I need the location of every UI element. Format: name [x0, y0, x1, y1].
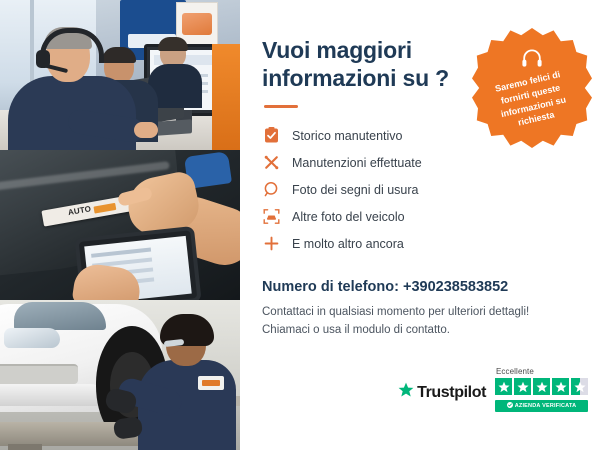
verified-company-badge: AZIENDA VERIFICATA [495, 400, 588, 412]
star-filled-2 [514, 378, 531, 395]
verified-check-icon [507, 402, 513, 410]
feature-label: Altre foto del veicolo [292, 210, 405, 224]
headset-icon [521, 48, 543, 73]
clipboard-check-icon [262, 126, 281, 145]
trustpilot-logo: Trustpilot [398, 382, 486, 412]
trustpilot-rating[interactable]: Trustpilot Eccellente [398, 367, 588, 412]
star-half-5 [571, 378, 588, 395]
plus-icon [262, 234, 281, 253]
feature-item-foto-segni-usura: Foto dei segni di usura [262, 176, 578, 203]
star-filled-4 [552, 378, 569, 395]
content-panel: Vuoi maggiori informazioni su ? Storico … [240, 0, 600, 450]
car-scan-icon [262, 207, 281, 226]
front-bumper [0, 384, 106, 406]
verified-label: AZIENDA VERIFICATA [515, 403, 577, 409]
feature-label: Manutenzioni effettuate [292, 156, 422, 170]
trustpilot-wordmark: Trustpilot [417, 384, 486, 402]
star-filled-3 [533, 378, 550, 395]
trustpilot-score-block: Eccellente [495, 367, 588, 412]
phone-number[interactable]: Numero di telefono: +390238583852 [262, 279, 578, 295]
windshield [14, 302, 106, 330]
title-underline-rule [264, 105, 298, 108]
front-grille [0, 364, 78, 384]
orange-column [212, 44, 240, 150]
feature-label: E molto altro ancora [292, 237, 404, 251]
feature-label: Storico manutentivo [292, 129, 402, 143]
car-body-inspection-photo [0, 150, 240, 300]
contact-copy-line-2: Chiamaci o usa il modulo di contatto. [262, 322, 578, 340]
trustpilot-star-icon [398, 382, 414, 403]
feature-label: Foto dei segni di usura [292, 183, 418, 197]
feature-item-molto-altro: E molto altro ancora [262, 230, 578, 257]
trustpilot-rating-label: Eccellente [496, 367, 534, 376]
headlight [4, 328, 60, 348]
call-center-agents-photo [0, 0, 240, 150]
magnifier-icon [262, 180, 281, 199]
foreground-agent-with-headset [12, 30, 132, 150]
contact-copy: Contattaci in qualsiasi momento per ulte… [262, 304, 578, 340]
trustpilot-stars [495, 378, 588, 395]
star-filled-1 [495, 378, 512, 395]
feature-item-manutenzioni-effettuate: Manutenzioni effettuate [262, 149, 578, 176]
tools-cross-icon [262, 153, 281, 172]
promo-banner: Vuoi maggiori informazioni su ? Storico … [0, 0, 600, 450]
feature-item-altre-foto-veicolo: Altre foto del veicolo [262, 203, 578, 230]
photo-column [0, 0, 240, 450]
page-title: Vuoi maggiori informazioni su ? [262, 36, 472, 92]
contact-copy-line-1: Contattaci in qualsiasi momento per ulte… [262, 304, 578, 322]
mechanic [140, 318, 234, 450]
mechanic-wheel-inspection-photo [0, 300, 240, 450]
info-starburst-badge: Saremo felici di fornirti queste informa… [472, 28, 592, 148]
